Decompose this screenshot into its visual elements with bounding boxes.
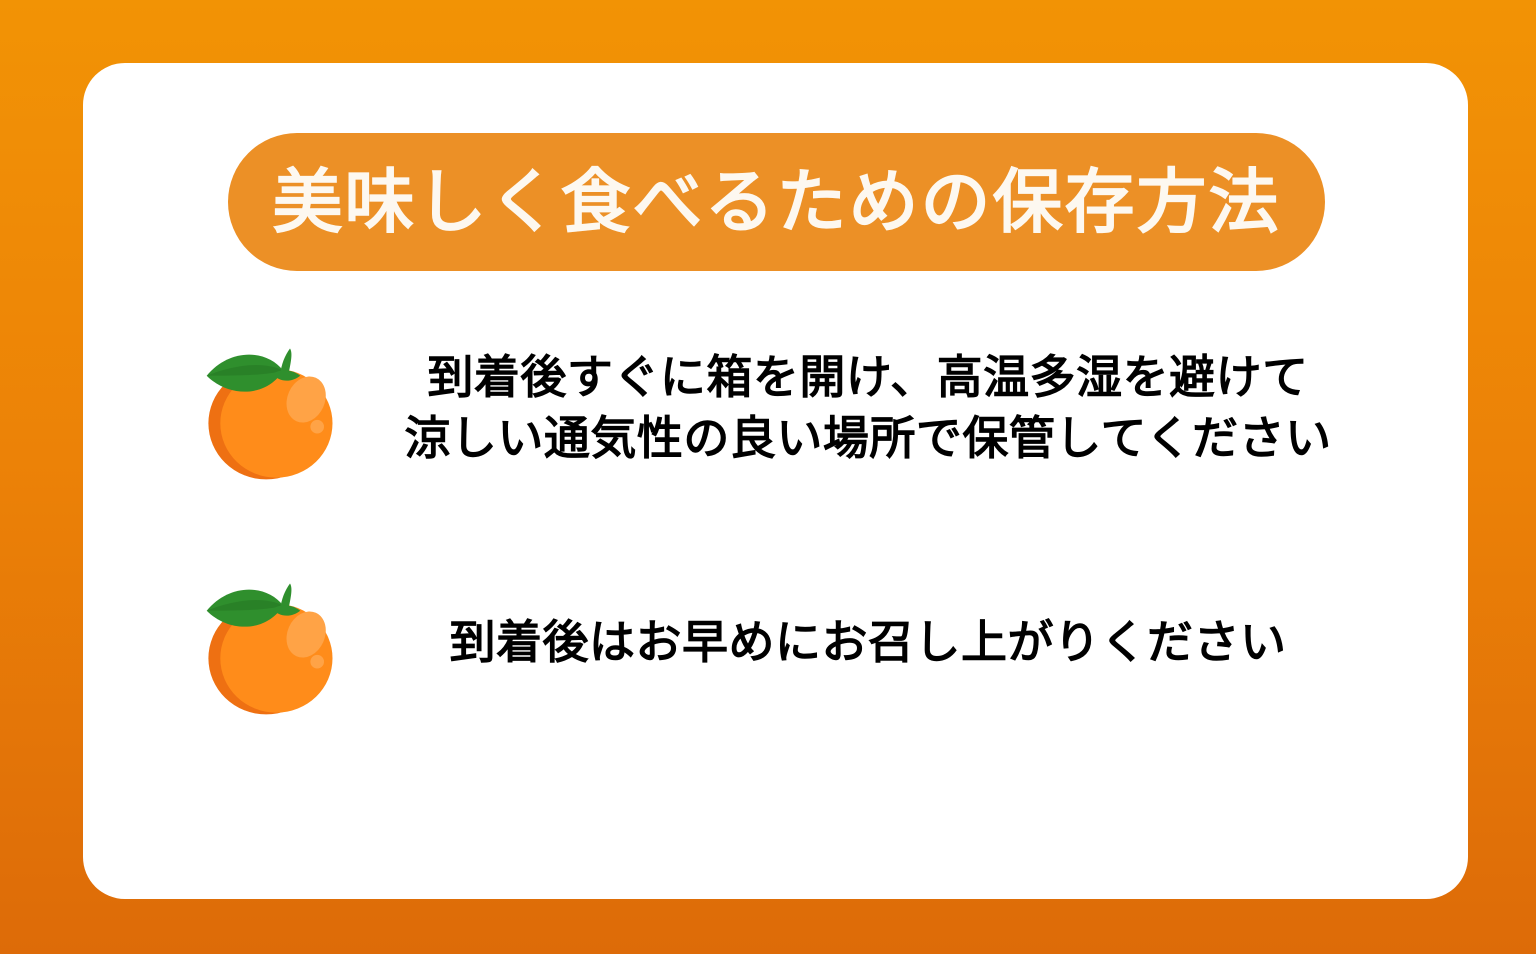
content-card: 美味しく食べるための保存方法 (83, 63, 1468, 899)
tip-row-2: 到着後はお早めにお召し上がりください (183, 553, 1373, 733)
orange-fruit-icon (183, 318, 363, 498)
tip-text: 到着後すぐに箱を開け、高温多湿を避けて 涼しい通気性の良い場所で保管してください (363, 347, 1373, 469)
title-pill: 美味しく食べるための保存方法 (228, 133, 1325, 271)
page-title: 美味しく食べるための保存方法 (273, 167, 1281, 237)
poster-root: 美味しく食べるための保存方法 (0, 0, 1536, 954)
orange-fruit-icon (183, 553, 363, 733)
tip-text: 到着後はお早めにお召し上がりください (363, 612, 1373, 673)
tip-row-1: 到着後すぐに箱を開け、高温多湿を避けて 涼しい通気性の良い場所で保管してください (183, 318, 1373, 498)
